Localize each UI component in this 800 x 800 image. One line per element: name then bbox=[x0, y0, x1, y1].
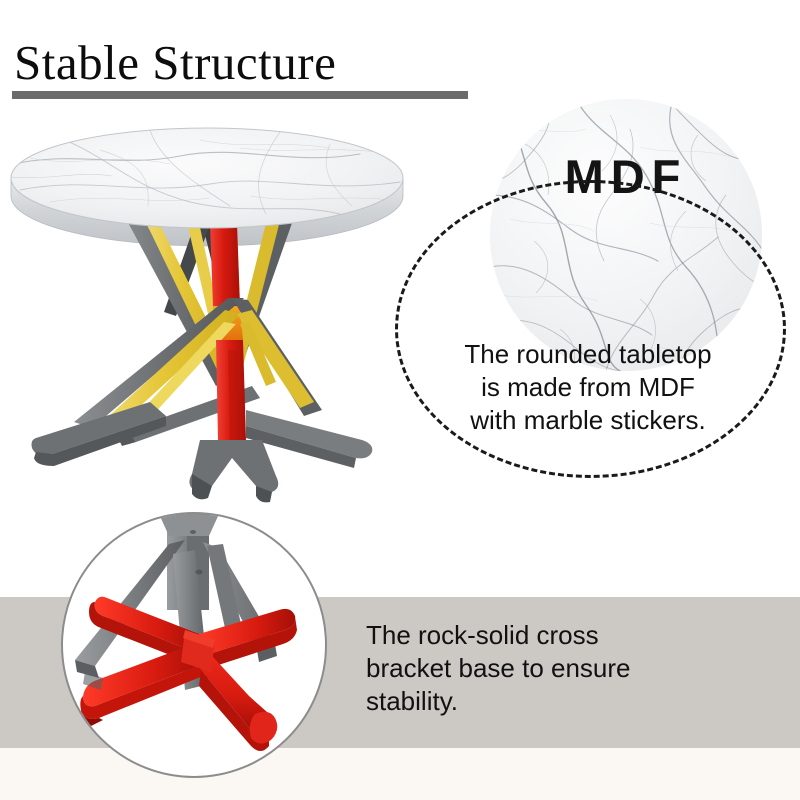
infographic-page: Stable Structure bbox=[0, 0, 800, 800]
base-caption-line-1: The rock-solid cross bbox=[366, 619, 756, 652]
base-caption-line-2: bracket base to ensure bbox=[366, 652, 756, 685]
mdf-caption-line-1: The rounded tabletop bbox=[409, 338, 767, 371]
dining-table-illustration bbox=[0, 110, 420, 510]
cross-bracket-detail-circle bbox=[61, 512, 327, 778]
mdf-caption-line-2: is made from MDF bbox=[409, 371, 767, 404]
title-underline-rule bbox=[12, 91, 468, 99]
base-caption-line-3: stability. bbox=[366, 685, 756, 718]
mdf-caption-line-3: with marble stickers. bbox=[409, 404, 767, 437]
mdf-caption: The rounded tabletop is made from MDF wi… bbox=[409, 338, 767, 437]
base-caption: The rock-solid cross bracket base to ens… bbox=[366, 619, 756, 718]
page-title: Stable Structure bbox=[14, 36, 336, 90]
